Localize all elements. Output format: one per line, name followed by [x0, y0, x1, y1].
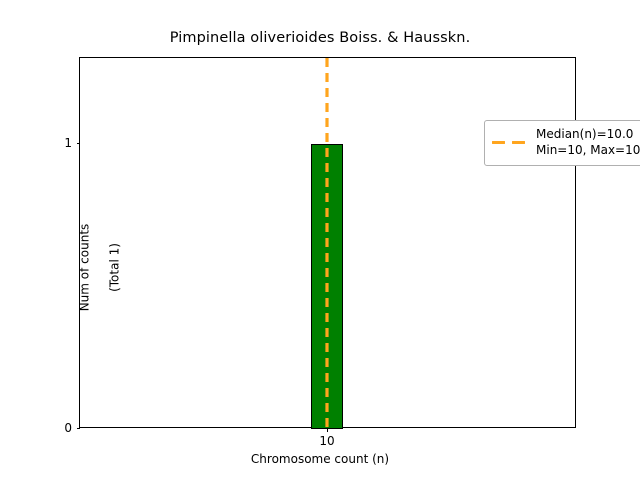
- x-tick-label-10: 10: [297, 434, 357, 448]
- median-line: [324, 58, 330, 429]
- legend-entry-labels: Median(n)=10.0 Min=10, Max=10: [536, 127, 640, 158]
- x-axis-label: Chromosome count (n): [0, 452, 640, 466]
- x-tick-mark-10: [327, 428, 328, 432]
- legend-entry-median: Median(n)=10.0 Min=10, Max=10: [492, 127, 640, 158]
- plot-inner-surface: [80, 58, 575, 427]
- y-tick-label-0: 0: [48, 421, 72, 435]
- plot-area: 0 1 10 Num of counts (Total 1) Median(n)…: [79, 57, 576, 428]
- y-axis-label-line2: (Total 1): [108, 138, 123, 398]
- chart-title: Pimpinella oliverioides Boiss. & Hausskn…: [0, 30, 640, 46]
- chart-legend: Median(n)=10.0 Min=10, Max=10: [484, 120, 640, 166]
- legend-label-median: Median(n)=10.0: [536, 127, 640, 142]
- chart-figure: Pimpinella oliverioides Boiss. & Hausskn…: [0, 0, 640, 480]
- dashed-line-icon: [492, 137, 528, 149]
- y-axis-label-line1: Num of counts: [78, 138, 93, 398]
- legend-label-minmax: Min=10, Max=10: [536, 143, 640, 158]
- y-tick-mark-0: [77, 428, 81, 429]
- y-axis-label: Num of counts (Total 1): [63, 138, 138, 398]
